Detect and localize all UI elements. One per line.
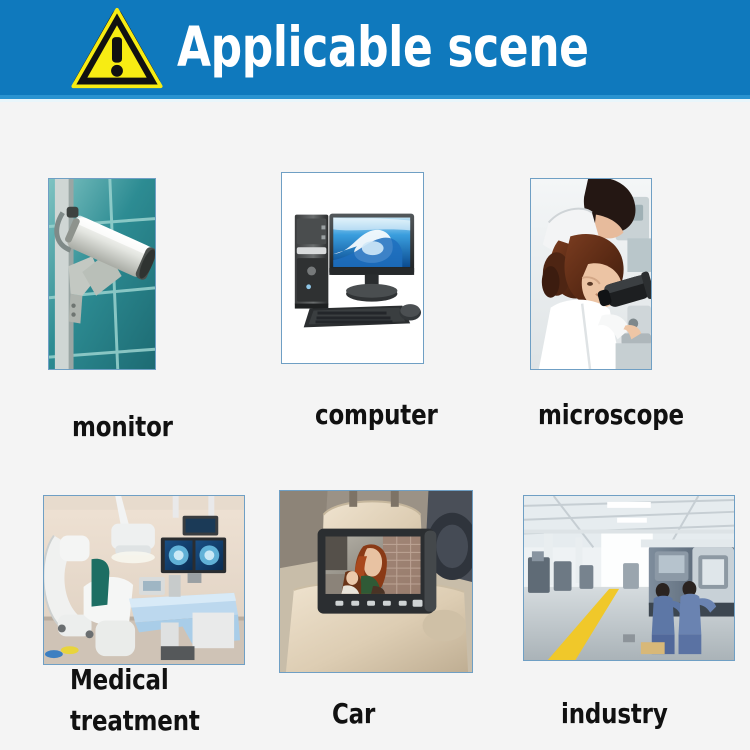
scene-label-industry: industry bbox=[561, 694, 750, 735]
warning-triangle-icon bbox=[71, 7, 163, 89]
scene-label-microscope: microscope bbox=[538, 395, 743, 436]
scene-image-medical-treatment[interactable] bbox=[43, 495, 245, 665]
scene-image-computer[interactable] bbox=[281, 172, 424, 364]
scene-image-industry[interactable] bbox=[523, 495, 735, 661]
header-banner: Applicable scene bbox=[0, 0, 750, 95]
page-title: Applicable scene bbox=[177, 20, 589, 75]
scene-label-car: Car bbox=[332, 694, 496, 735]
scene-label-monitor: monitor bbox=[72, 407, 252, 448]
scene-grid: monitor bbox=[0, 102, 750, 750]
scene-image-microscope[interactable] bbox=[530, 178, 652, 370]
scene-label-computer: computer bbox=[315, 395, 512, 436]
scene-image-car[interactable] bbox=[279, 490, 473, 673]
scene-image-monitor[interactable] bbox=[48, 178, 156, 370]
scene-label-medical-treatment: Medical treatment bbox=[70, 660, 283, 741]
